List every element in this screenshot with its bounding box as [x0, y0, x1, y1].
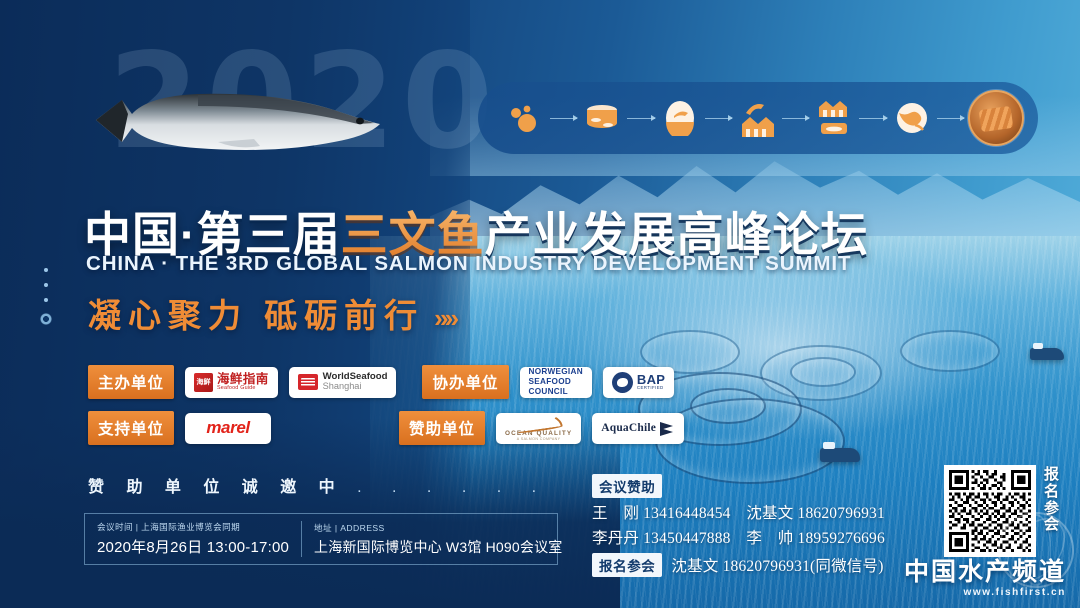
salmon-pen-circle — [900, 330, 1000, 372]
chain-arrow — [937, 118, 964, 119]
world-seafood-mark — [298, 374, 318, 390]
chain-arrow — [705, 118, 732, 119]
norwegian-seafood-council-logo[interactable]: NORWEGIAN SEAFOOD COUNCIL — [520, 367, 592, 398]
hatchery-fry-icon — [659, 97, 701, 139]
seafood-guide-mark: 海鲜 — [194, 373, 213, 392]
nsc-line1: NORWEGIAN — [529, 367, 583, 377]
contact-line-2: 李丹丹 13450447888 李 帅 18959276696 — [592, 526, 937, 548]
seafood-guide-name-cn: 海鲜指南 — [217, 373, 269, 386]
marel-logo[interactable]: marel — [185, 413, 271, 444]
aquachile-arrow-icon — [660, 422, 675, 435]
chain-arrow — [782, 118, 809, 119]
dot-decoration — [40, 268, 52, 325]
chain-arrow — [627, 118, 654, 119]
chain-arrow — [550, 118, 577, 119]
ocean-quality-logo[interactable]: OCEAN QUALITY A SALMON COMPANY — [496, 413, 581, 444]
bap-subtitle: CERTIFIED — [637, 386, 665, 390]
sponsor-badge-sponsor: 赞助单位 — [399, 411, 485, 445]
chevron-right-icon: »» — [434, 303, 455, 333]
slogan: 凝心聚力 砥砺前行»» — [88, 289, 455, 337]
salmon-photo — [88, 84, 388, 156]
salmon-eggs-icon — [504, 97, 546, 139]
sponsor-badge-supporter: 支持单位 — [88, 411, 174, 445]
registration-tag: 报名参会 — [592, 553, 662, 577]
farm-boat — [1030, 348, 1064, 360]
contact-block: 会议赞助 王 刚 13416448454 沈基文 18620796931 李丹丹… — [592, 474, 937, 577]
slogan-text: 凝心聚力 砥砺前行 — [88, 297, 424, 334]
event-address-cell: 地址 | ADDRESS 上海新国际博览中心 W3馆 H090会议室 — [301, 521, 574, 557]
event-info-bar: 会议时间 | 上海国际渔业博览会同期 2020年8月26日 13:00-17:0… — [84, 513, 558, 565]
chain-arrow — [859, 118, 886, 119]
prepared-salmon-dish-icon — [968, 90, 1024, 146]
seafood-guide-logo[interactable]: 海鲜 海鲜指南 Seafood Guide — [185, 367, 278, 398]
watermark-name: 中国水产频道 — [904, 552, 1066, 588]
site-watermark: 中国水产频道 www.fishfirst.cn — [904, 552, 1066, 598]
contact-line-1: 王 刚 13416448454 沈基文 18620796931 — [592, 501, 937, 523]
salmon-pen-circle — [790, 357, 856, 387]
marel-title: marel — [206, 418, 249, 438]
aquachile-logo[interactable]: AquaChile — [592, 413, 684, 444]
nsc-line3: COUNCIL — [529, 387, 583, 397]
bap-eye-icon — [612, 372, 633, 393]
page-title-english: CHINA · THE 3RD GLOBAL SALMON INDUSTRY D… — [86, 252, 851, 276]
event-address-label: 地址 | ADDRESS — [314, 522, 562, 534]
farm-pen-icon — [736, 97, 778, 139]
sponsor-row-organizer: 主办单位 海鲜 海鲜指南 Seafood Guide WorldSeafood … — [88, 366, 708, 398]
seafood-guide-name-en: Seafood Guide — [217, 386, 269, 392]
sponsor-section: 主办单位 海鲜 海鲜指南 Seafood Guide WorldSeafood … — [88, 366, 708, 458]
sponsor-badge-coorganizer: 协办单位 — [422, 365, 508, 399]
processing-plant-icon — [813, 97, 855, 139]
sponsor-row-supporter: 支持单位 marel 赞助单位 OCEAN QUALITY A SALMON C… — [88, 412, 708, 444]
event-time-label: 会议时间 | 上海国际渔业博览会同期 — [97, 521, 289, 533]
sponsor-invitation-line: 赞 助 单 位 诚 邀 中 . . . . . . — [88, 473, 549, 497]
event-time-cell: 会议时间 | 上海国际渔业博览会同期 2020年8月26日 13:00-17:0… — [85, 521, 301, 557]
global-distribution-icon — [891, 97, 933, 139]
registration-row: 报名参会 沈基文 18620796931(同微信号) — [592, 553, 937, 577]
event-address-value: 上海新国际博览中心 W3馆 H090会议室 — [314, 537, 562, 557]
ocean-quality-subtitle: A SALMON COMPANY — [517, 438, 561, 442]
invite-dots: . . . . . . — [357, 479, 549, 496]
farm-boat — [820, 448, 860, 462]
conference-poster: 2020 — [0, 0, 1080, 608]
invite-text: 赞 助 单 位 诚 邀 中 — [88, 479, 344, 496]
nsc-line2: SEAFOOD — [529, 377, 583, 387]
sponsor-badge-organizer: 主办单位 — [88, 365, 174, 399]
roe-tank-icon — [581, 97, 623, 139]
registration-value: 沈基文 18620796931(同微信号) — [671, 554, 883, 576]
aquachile-title: AquaChile — [601, 422, 656, 434]
supply-chain-ribbon — [478, 82, 1038, 154]
contact-sponsor-tag: 会议赞助 — [592, 474, 662, 498]
bap-logo[interactable]: BAP CERTIFIED — [603, 367, 674, 398]
world-seafood-shanghai-logo[interactable]: WorldSeafood Shanghai — [289, 367, 397, 398]
event-time-value: 2020年8月26日 13:00-17:00 — [97, 536, 289, 557]
world-seafood-line2: Shanghai — [323, 382, 388, 392]
watermark-url: www.fishfirst.cn — [904, 587, 1066, 598]
